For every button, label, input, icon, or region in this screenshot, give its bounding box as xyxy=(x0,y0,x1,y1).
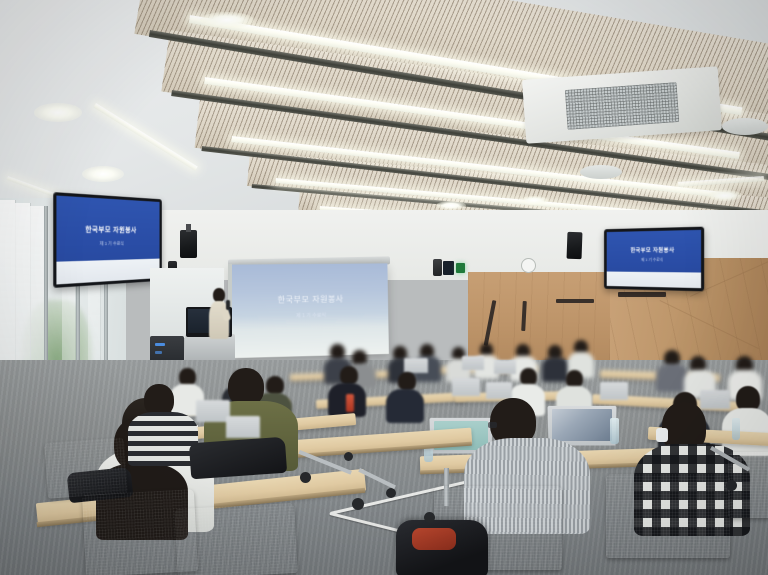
left-tv-screen: 한국부모 자원봉사 제 1 기 수료식 xyxy=(56,196,159,285)
ceiling-diffuser-1 xyxy=(722,118,768,135)
wall-speaker-right xyxy=(567,232,583,260)
wall-speaker-left xyxy=(180,230,197,258)
ceiling-downlight-2 xyxy=(82,166,124,182)
laptop xyxy=(486,382,512,399)
projection-screen: 한국부모 자원봉사 제 1 기 수료식 xyxy=(230,263,388,358)
face-mask xyxy=(656,428,668,442)
wall-speaker-center xyxy=(433,259,442,276)
left-tv-subtitle: 제 1 기 수료식 xyxy=(56,241,159,248)
attendee-body xyxy=(542,357,569,382)
av-rack-led-1 xyxy=(155,343,165,346)
presenter xyxy=(205,288,233,350)
ceiling-downlight-3 xyxy=(200,12,254,28)
right-tv-screen: 한국부모 자원봉사 제 1 기 수료식 xyxy=(607,230,701,288)
ceiling-air-conditioner xyxy=(522,66,722,144)
chair xyxy=(44,437,128,498)
backpack-red-panel xyxy=(412,528,456,550)
air-conditioner-grille xyxy=(565,82,680,130)
lecture-hall-photo: 한국부모 자원봉사 제 1 기 수료식 한국부모 자원봉사 제 1 기 수료식 … xyxy=(0,0,768,575)
laptop xyxy=(226,416,260,438)
wall-slot-3 xyxy=(618,292,666,297)
exit-sign-housing xyxy=(443,261,454,275)
speaker-bracket xyxy=(186,224,191,232)
left-tv-title: 한국부모 자원봉사 xyxy=(56,224,159,236)
ceiling-downlight-1 xyxy=(34,103,82,122)
attendee-body xyxy=(386,389,424,423)
av-rack-led-2 xyxy=(155,351,162,354)
laptop xyxy=(404,358,428,373)
chair-caster xyxy=(352,498,364,510)
chair-caster xyxy=(386,488,396,498)
laptop xyxy=(452,378,480,396)
black-bag-on-desk xyxy=(189,437,287,480)
chair-caster xyxy=(344,452,353,461)
exit-sign-light xyxy=(456,263,465,273)
right-tv-title: 한국부모 자원봉사 xyxy=(607,245,701,254)
left-tv-lower-band xyxy=(56,258,159,284)
wall-clock xyxy=(521,258,536,273)
left-tv-frame: 한국부모 자원봉사 제 1 기 수료식 xyxy=(53,192,162,288)
right-tv-subtitle: 제 1 기 수료식 xyxy=(607,258,701,263)
microphone xyxy=(226,300,230,310)
wall-slot-2 xyxy=(556,299,594,303)
chair-caster xyxy=(424,512,435,523)
ceiling-diffuser-2 xyxy=(580,165,622,179)
chair-caster xyxy=(726,480,737,491)
chair xyxy=(606,474,730,558)
right-tv-frame: 한국부모 자원봉사 제 1 기 수료식 xyxy=(604,227,704,292)
attendee-torso xyxy=(128,412,198,466)
chair xyxy=(174,503,297,575)
laptop xyxy=(462,356,484,370)
laptop xyxy=(196,400,230,422)
ceiling-downlight-5 xyxy=(520,196,548,205)
chair-caster xyxy=(300,472,311,483)
projection-title: 한국부모 자원봉사 xyxy=(231,293,388,306)
right-tv-lower-band xyxy=(607,272,701,288)
ceiling-downlight-4 xyxy=(436,201,466,210)
presenter-head xyxy=(213,288,225,302)
projection-subtitle: 제 1 기 수료식 xyxy=(231,311,388,321)
red-water-bottle xyxy=(346,394,354,412)
laptop xyxy=(494,360,516,374)
attendee-glasses xyxy=(488,422,497,428)
ceiling-downlight-6 xyxy=(708,190,742,201)
backpack-foreground xyxy=(396,520,488,575)
